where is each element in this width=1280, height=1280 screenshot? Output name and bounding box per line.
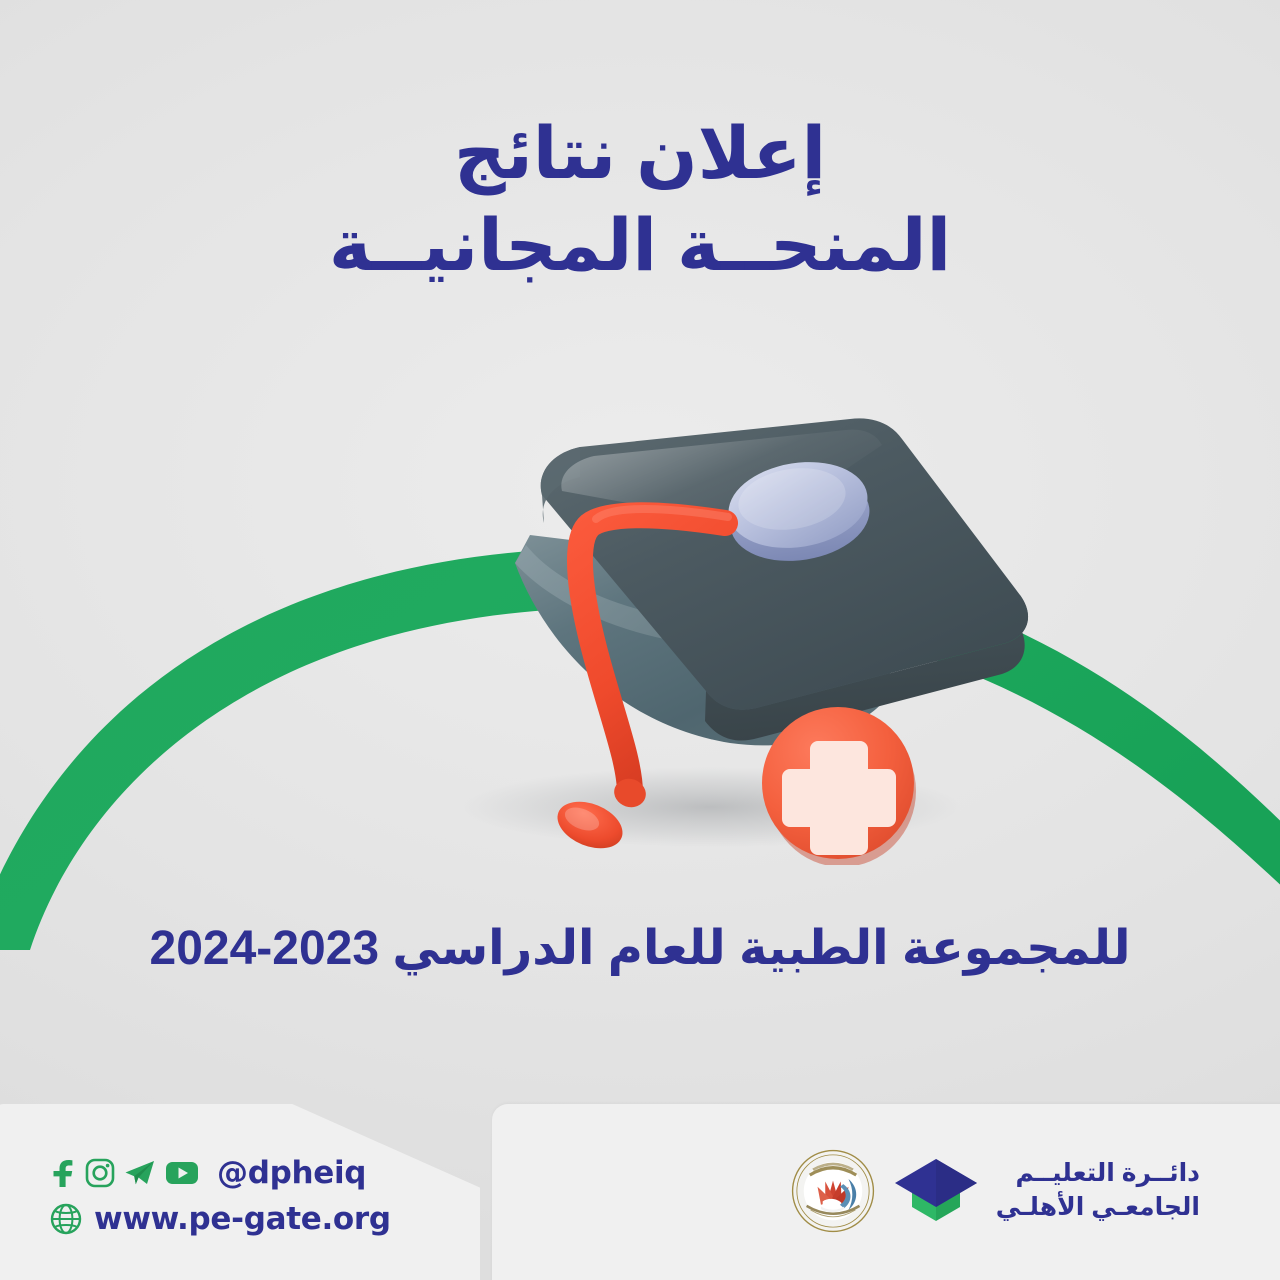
headline-line-1: إعلان نتائج bbox=[0, 108, 1280, 200]
brand-line-1: دائــرة التعليــم bbox=[996, 1157, 1200, 1191]
instagram-icon[interactable] bbox=[85, 1158, 115, 1188]
poster-canvas: إعلان نتائج المنحــة المجانيــة للمجموعة… bbox=[0, 0, 1280, 1280]
headline-line-2: المنحــة المجانيــة bbox=[0, 200, 1280, 292]
page-title: إعلان نتائج المنحــة المجانيــة bbox=[0, 108, 1280, 292]
brand-name: دائــرة التعليــم الجامعـي الأهلـي bbox=[996, 1157, 1200, 1225]
brand-line-2: الجامعـي الأهلـي bbox=[996, 1191, 1200, 1225]
social-block: @dpheiq www.pe-gate.org bbox=[50, 1152, 391, 1240]
website-url[interactable]: www.pe-gate.org bbox=[94, 1201, 391, 1237]
social-handle-row: @dpheiq bbox=[50, 1152, 391, 1194]
page-subtitle: للمجموعة الطبية للعام الدراسي 2023-2024 bbox=[0, 920, 1280, 978]
youtube-icon[interactable] bbox=[165, 1160, 199, 1186]
social-handle[interactable]: @dpheiq bbox=[217, 1155, 366, 1191]
graduation-cap-logo bbox=[892, 1155, 980, 1227]
globe-icon[interactable] bbox=[50, 1203, 82, 1235]
graduation-cap-illustration bbox=[330, 395, 1050, 865]
telegram-icon[interactable] bbox=[124, 1158, 156, 1188]
ministry-of-higher-education-seal bbox=[790, 1148, 876, 1234]
brand-block: دائــرة التعليــم الجامعـي الأهلـي bbox=[790, 1148, 1200, 1234]
website-row: www.pe-gate.org bbox=[50, 1198, 391, 1240]
facebook-icon[interactable] bbox=[50, 1158, 76, 1188]
